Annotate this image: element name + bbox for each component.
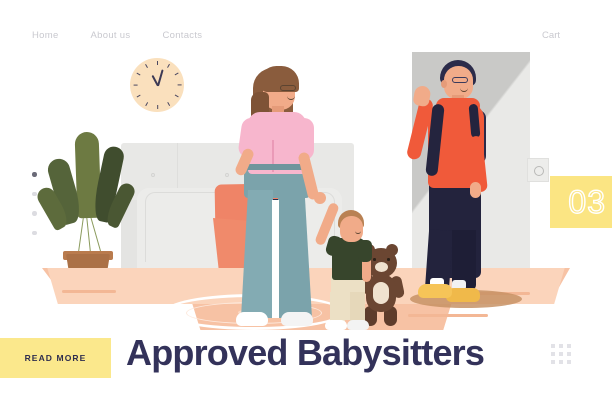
glasses-icon <box>280 85 296 91</box>
intercom-knob-icon <box>534 166 544 176</box>
decorative-dot-grid <box>551 344 571 364</box>
hero-illustration <box>0 40 612 330</box>
holding-hand-icon <box>314 192 326 204</box>
wall-clock-icon <box>130 58 184 112</box>
read-more-button[interactable]: READ MORE <box>0 338 111 378</box>
landing-page-hero: Home About us Contacts Cart 03 <box>0 0 612 408</box>
intercom-panel[interactable] <box>527 158 549 182</box>
read-more-label: READ MORE <box>25 353 87 363</box>
page-title: Approved Babysitters <box>126 332 484 373</box>
